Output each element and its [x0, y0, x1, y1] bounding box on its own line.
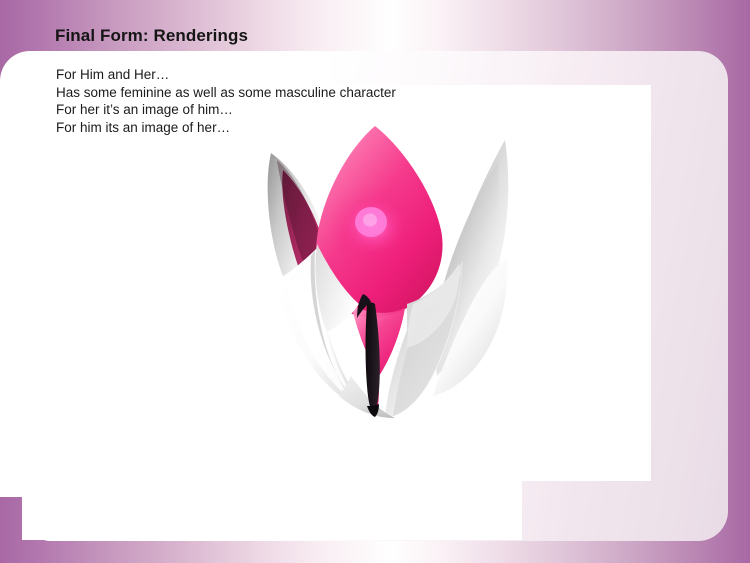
body-line-3: For her it’s an image of him…	[56, 101, 396, 119]
body-line-2: Has some feminine as well as some mascul…	[56, 84, 396, 102]
body-line-1: For Him and Her…	[56, 66, 396, 84]
slide-white-area-bottom-left-corner	[22, 420, 162, 541]
tulip-form-3d-render-image	[255, 118, 520, 418]
slide-canvas: Final Form: Renderings For Him and Her… …	[0, 0, 750, 563]
slide-title: Final Form: Renderings	[55, 26, 248, 46]
tulip-form-svg	[255, 118, 520, 418]
